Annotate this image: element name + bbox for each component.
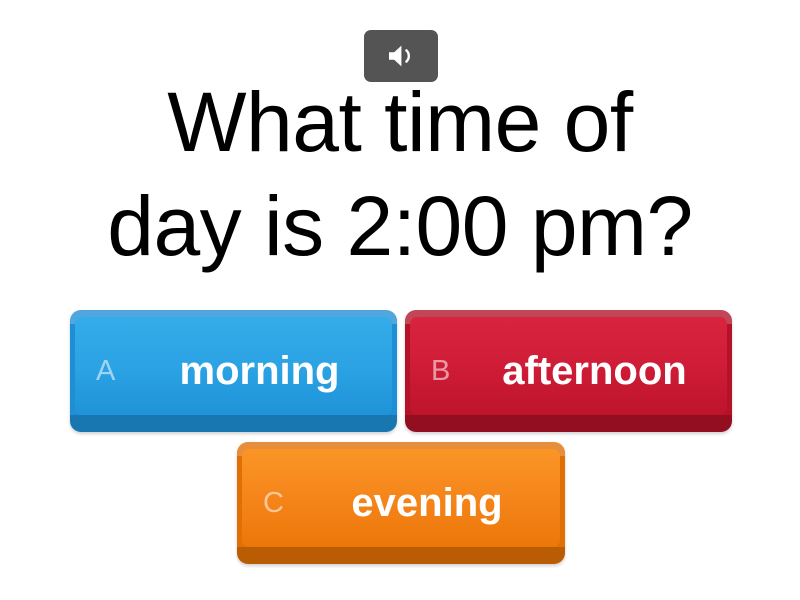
answer-a-letter: A xyxy=(96,357,152,386)
question-text: What time of day is 2:00 pm? xyxy=(0,70,800,278)
answer-c-label: evening xyxy=(319,483,549,523)
answer-b-label: afternoon xyxy=(487,351,716,391)
quiz-stage: What time of day is 2:00 pm? A morning B… xyxy=(0,0,800,600)
answer-option-a[interactable]: A morning xyxy=(70,310,397,432)
answer-a-row: A morning xyxy=(70,319,397,424)
answer-c-letter: C xyxy=(263,489,319,518)
answer-b-letter: B xyxy=(431,357,487,386)
answer-b-row: B afternoon xyxy=(405,319,732,424)
answer-a-label: morning xyxy=(152,351,381,391)
answer-option-b[interactable]: B afternoon xyxy=(405,310,732,432)
answer-option-c[interactable]: C evening xyxy=(237,442,565,564)
speaker-icon xyxy=(386,43,416,69)
answer-c-row: C evening xyxy=(237,451,565,556)
